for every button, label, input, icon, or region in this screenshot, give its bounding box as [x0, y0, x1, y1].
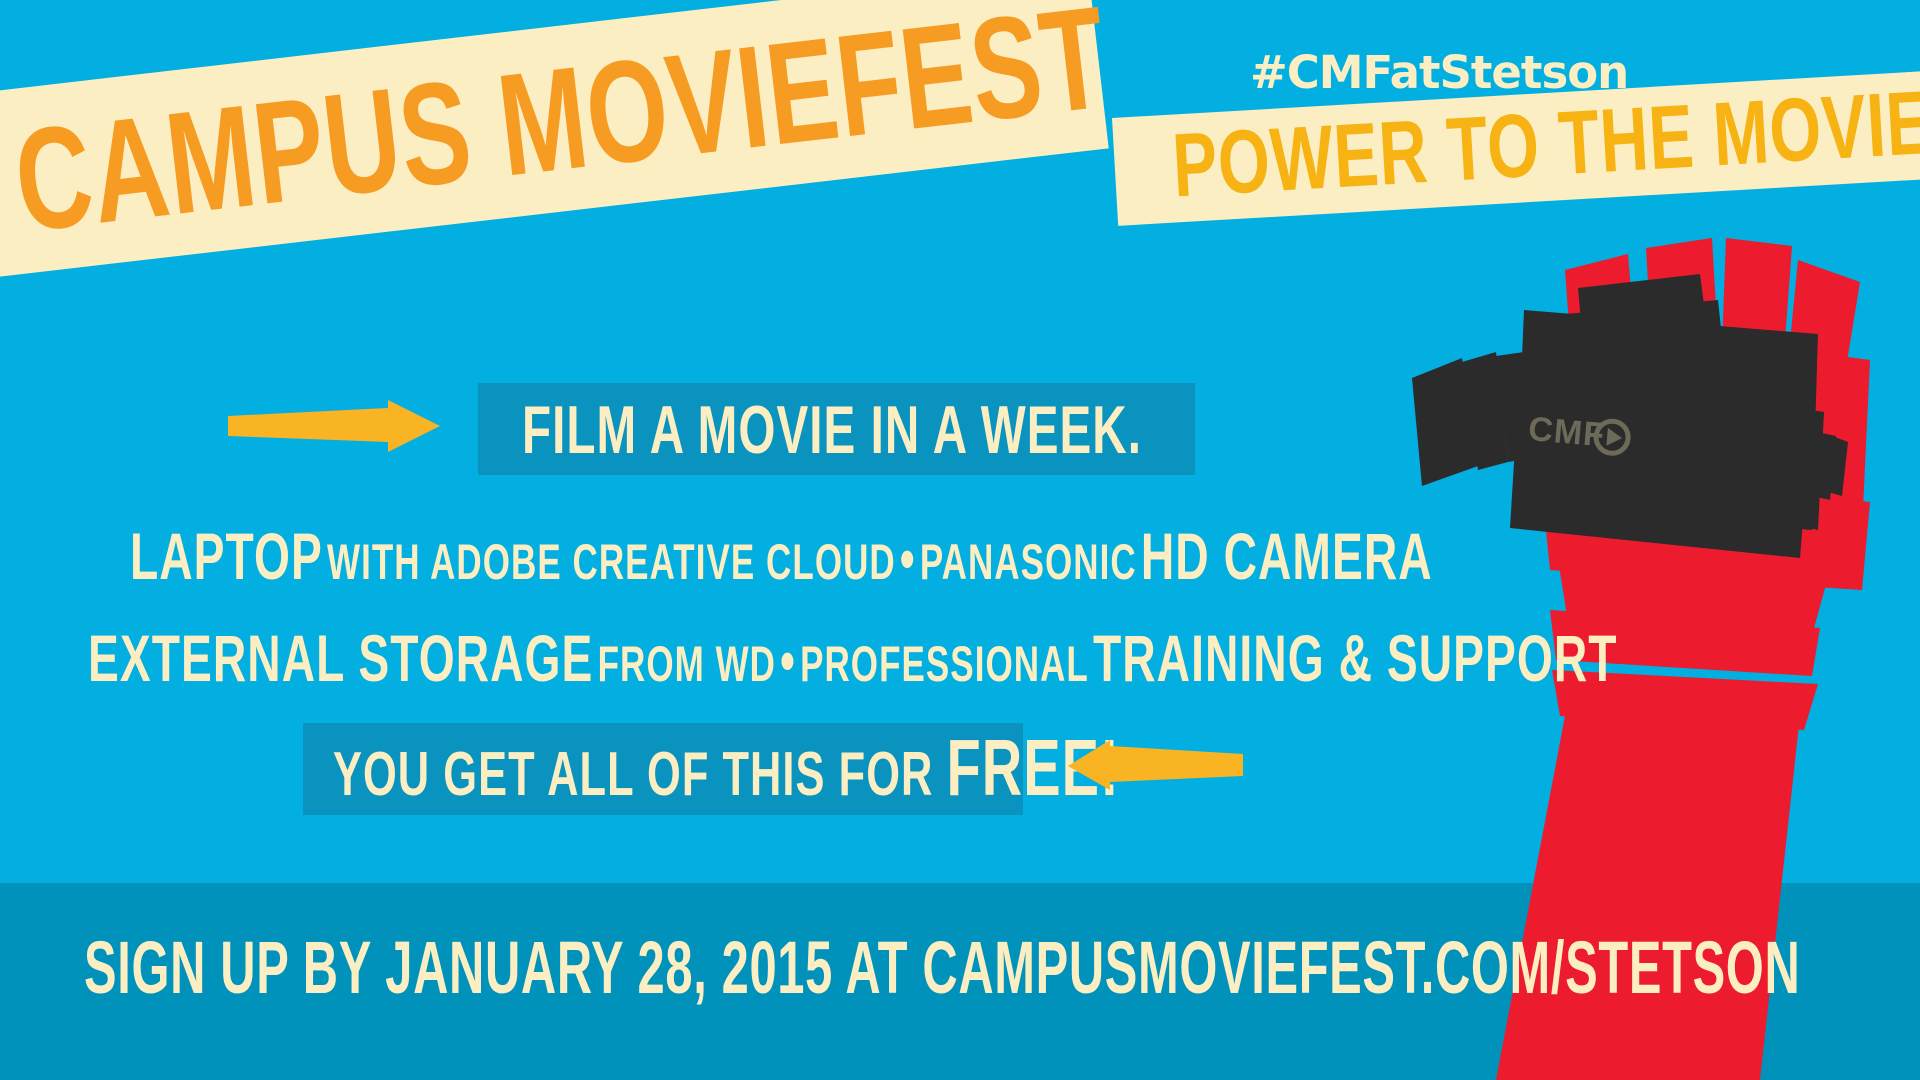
- equipment-item: PROFESSIONAL: [800, 636, 1089, 692]
- equipment-item: WITH ADOBE CREATIVE CLOUD: [327, 534, 896, 590]
- headline-label: FILM A MOVIE IN A WEEK.: [522, 395, 1142, 465]
- equipment-item: PANASONIC: [920, 534, 1137, 590]
- bullet-separator: •: [900, 525, 916, 592]
- equipment-line: LAPTOP WITH ADOBE CREATIVE CLOUD • PANAS…: [130, 516, 1433, 615]
- equipment-item: HD CAMERA: [1141, 519, 1433, 593]
- equipment-item: FROM WD: [598, 636, 776, 692]
- signup-call-to-action: SIGN UP BY JANUARY 28, 2015 AT CAMPUSMOV…: [84, 928, 1800, 1008]
- title-banner: CAMPUS MOVIEFEST: [0, 0, 1109, 279]
- equipment-item: LAPTOP: [130, 519, 323, 593]
- bullet-separator: •: [780, 627, 796, 694]
- promotional-poster: CMF CAMPUS MOVIEFEST #CMFatStetson POWER…: [0, 0, 1920, 1080]
- free-offer-box: YOU GET ALL OF THIS FOR FREE!: [303, 723, 1023, 815]
- free-offer-label: YOU GET ALL OF THIS FOR FREE!: [333, 729, 1120, 830]
- free-offer-lead: YOU GET ALL OF THIS FOR: [333, 740, 947, 809]
- arrow-left-icon: [1068, 740, 1243, 800]
- equipment-line: EXTERNAL STORAGE FROM WD • PROFESSIONAL …: [88, 618, 1618, 717]
- equipment-item: TRAINING & SUPPORT: [1093, 621, 1618, 695]
- equipment-item: EXTERNAL STORAGE: [88, 621, 593, 695]
- arrow-right-icon: [228, 400, 443, 460]
- page-title: CAMPUS MOVIEFEST: [8, 0, 1114, 257]
- headline-box: FILM A MOVIE IN A WEEK.: [478, 383, 1195, 475]
